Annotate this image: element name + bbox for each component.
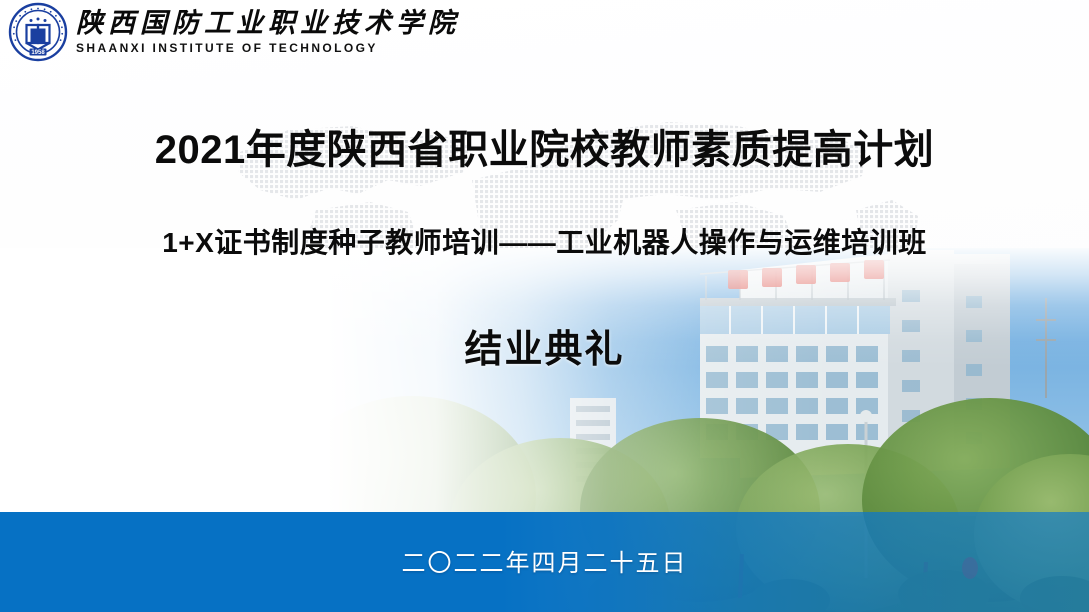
institution-header: 1958 陕西国防工业职业技术学院 SHAANXI INSTITUTE OF T… xyxy=(8,2,460,62)
institution-name-block: 陕西国防工业职业技术学院 SHAANXI INSTITUTE OF TECHNO… xyxy=(76,10,460,54)
seal-year: 1958 xyxy=(31,50,45,56)
ceremony-date: 二〇二二年四月二十五日 xyxy=(0,543,1089,578)
presentation-slide: 二〇二二年四月二十五日 xyxy=(0,0,1089,612)
institution-name-cn: 陕西国防工业职业技术学院 xyxy=(76,10,460,37)
institution-name-en: SHAANXI INSTITUTE OF TECHNOLOGY xyxy=(76,42,460,54)
university-seal-icon: 1958 xyxy=(8,2,68,62)
